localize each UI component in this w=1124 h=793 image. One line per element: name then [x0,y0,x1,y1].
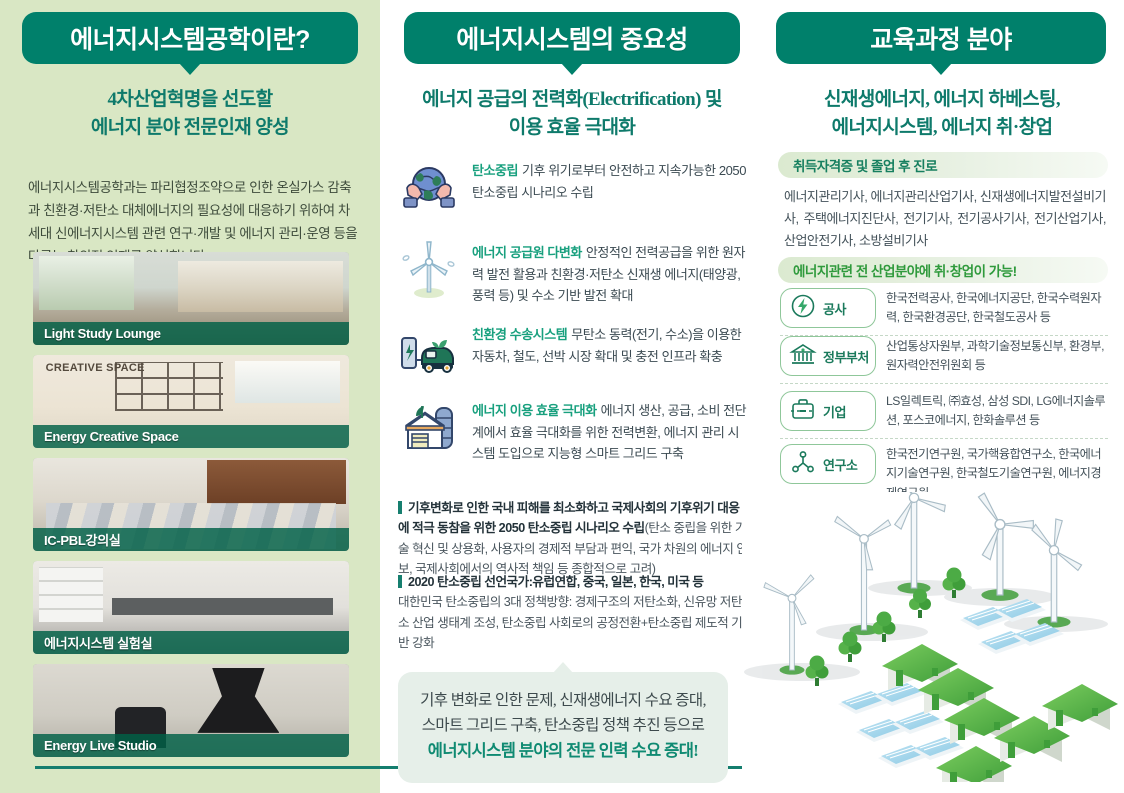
feature-title: 탄소중립 [472,163,518,178]
brochure-page: 에너지시스템공학이란? 4차산업혁명을 선도할 에너지 분야 전문인재 양성 에… [0,0,1124,793]
career-badge-label: 연구소 [823,455,857,474]
right-column-subtitle: 신재생에너지, 에너지 하베스팅, 에너지시스템, 에너지 취·창업 [772,86,1112,141]
photo-card-energy-creative-space: CREATIVE SPACE Energy Creative Space [33,355,349,448]
career-badge: 연구소 [780,444,876,484]
feature-title: 에너지 공급원 다변화 [472,245,582,260]
feature-text: 친환경 수송시스템무탄소 동력(전기, 수소)을 이용한 자동차, 철도, 선박… [472,322,750,367]
earth-in-hands-icon [398,158,460,220]
callout-line-2: 스마트 그리드 구축, 탄소중립 정책 추진 등으로 [416,713,710,738]
career-description: 산업통상자원부, 과학기술정보통신부, 환경부, 원자력안전위원회 등 [886,336,1108,376]
briefcase-icon [789,395,817,428]
ev-charging-car-icon [398,322,460,384]
feature-title: 친환경 수송시스템 [472,327,567,342]
bullet-bar-icon [398,575,402,588]
certification-section-pill: 취득자격증 및 졸업 후 진로 [778,152,1108,178]
career-badge: 기업 [780,391,876,431]
right-subtitle-line-2: 에너지시스템, 에너지 취·창업 [772,114,1112,142]
feature-text: 에너지 이용 효율 극대화에너지 생산, 공급, 소비 전단계에서 효율 극대화… [472,398,750,465]
photo-caption: 에너지시스템 실험실 [33,631,349,654]
feature-text: 에너지 공급원 다변화안정적인 전력공급을 위한 원자력 발전 활용과 친환경·… [472,240,750,307]
photo-card-energy-system-lab: 에너지시스템 실험실 [33,561,349,654]
factory-plant-icon [398,398,460,460]
callout-line-3-highlight: 에너지시스템 분야의 전문 인력 수요 증대! [416,738,710,765]
middle-column-header: 에너지시스템의 중요성 [404,12,740,64]
photo-caption: Energy Creative Space [33,425,349,448]
photo-card-icpbl-classroom: IC-PBL강의실 [33,458,349,551]
photo-caption: Energy Live Studio [33,734,349,757]
career-badge: 공사 [780,288,876,328]
middle-subtitle-line-2: 이용 효율 극대화 [396,114,748,142]
middle-bullet-block-2: 2020 탄소중립 선언국가:유럽연합, 중국, 일본, 한국, 미국 등대한민… [398,572,750,654]
career-row-public-corporation: 공사 한국전력공사, 한국에너지공단, 한국수력원자력, 한국환경공단, 한국철… [780,288,1108,336]
conclusion-callout: 기후 변화로 인한 문제, 신재생에너지 수요 증대, 스마트 그리드 구축, … [398,672,728,783]
feature-item-efficiency-maximization: 에너지 이용 효율 극대화에너지 생산, 공급, 소비 전단계에서 효율 극대화… [398,398,750,465]
left-subtitle-line-2: 에너지 분야 전문인재 양성 [22,114,358,142]
career-section-pill: 에너지관련 전 산업분야에 취·창업이 가능! [778,257,1108,283]
feature-title: 에너지 이용 효율 극대화 [472,403,597,418]
bullet-rest-text: 대한민국 탄소중립의 3대 정책방향: 경제구조의 저탄소화, 신유망 저탄소 … [398,595,742,650]
callout-line-1: 기후 변화로 인한 문제, 신재생에너지 수요 증대, [416,688,710,713]
photo-overlay-text: CREATIVE SPACE [46,362,145,374]
bullet-bar-icon [398,501,402,514]
feature-item-energy-diversification: 에너지 공급원 다변화안정적인 전력공급을 위한 원자력 발전 활용과 친환경·… [398,240,750,307]
certification-list-text: 에너지관리기사, 에너지관리산업기사, 신재생에너지발전설비기사, 주택에너지진… [784,186,1106,251]
feature-item-eco-transport: 친환경 수송시스템무탄소 동력(전기, 수소)을 이용한 자동차, 철도, 선박… [398,322,750,384]
career-badge-label: 공사 [823,299,846,318]
illustration-svg [742,492,1124,782]
right-subtitle-line-1: 신재생에너지, 에너지 하베스팅, [772,86,1112,114]
career-description: 한국전력공사, 한국에너지공단, 한국수력원자력, 한국환경공단, 한국철도공사… [886,288,1108,328]
photo-card-energy-live-studio: Energy Live Studio [33,664,349,757]
wind-turbine-icon [398,240,460,302]
government-building-icon [789,340,817,373]
left-subtitle-line-1: 4차산업혁명을 선도할 [22,86,358,114]
left-column-header: 에너지시스템공학이란? [22,12,358,64]
left-column-subtitle: 4차산업혁명을 선도할 에너지 분야 전문인재 양성 [22,86,358,141]
career-description: LS일렉트릭, ㈜효성, 삼성 SDI, LG에너지솔루션, 포스코에너지, 한… [886,391,1108,431]
right-column-header: 교육과정 분야 [776,12,1106,64]
photo-card-light-study-lounge: Light Study Lounge [33,252,349,345]
middle-subtitle-line-1: 에너지 공급의 전력화(Electrification) 및 [396,86,748,114]
photo-caption: IC-PBL강의실 [33,528,349,551]
career-row-company: 기업 LS일렉트릭, ㈜효성, 삼성 SDI, LG에너지솔루션, 포스코에너지… [780,391,1108,439]
career-badge: 정부부처 [780,336,876,376]
lightning-bolt-circle-icon [789,292,817,325]
molecule-node-icon [789,448,817,481]
feature-text: 탄소중립기후 위기로부터 안전하고 지속가능한 2050 탄소중립 시나리오 수… [472,158,750,203]
middle-bullet-block-1: 기후변화로 인한 국내 피해를 최소화하고 국제사회의 기후위기 대응에 적극 … [398,498,750,580]
middle-column-subtitle: 에너지 공급의 전력화(Electrification) 및 이용 효율 극대화 [396,86,748,141]
renewable-village-illustration [742,492,1124,782]
photo-caption: Light Study Lounge [33,322,349,345]
career-badge-label: 기업 [823,402,846,421]
career-badge-label: 정부부처 [823,347,869,366]
feature-item-carbon-neutral: 탄소중립기후 위기로부터 안전하고 지속가능한 2050 탄소중립 시나리오 수… [398,158,750,220]
bullet-lead-text: 2020 탄소중립 선언국가:유럽연합, 중국, 일본, 한국, 미국 등 [408,575,704,589]
career-row-government: 정부부처 산업통상자원부, 과학기술정보통신부, 환경부, 원자력안전위원회 등 [780,336,1108,384]
